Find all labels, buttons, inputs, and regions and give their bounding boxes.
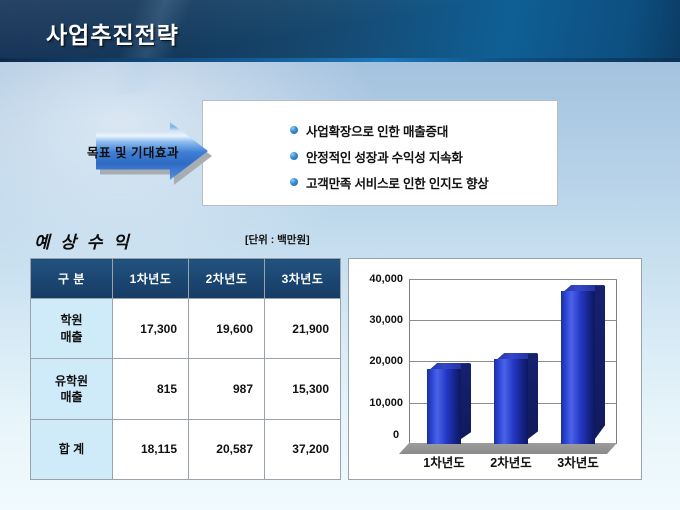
bullet-text: 고객만족 서비스로 인한 인지도 향상 <box>306 173 489 192</box>
table-cell: 37,200 <box>265 419 341 479</box>
row-label: 유학원 매출 <box>31 359 113 419</box>
bar-front-face <box>494 359 528 444</box>
y-axis-tick-label: 20,000 <box>369 355 403 367</box>
bullet-dot-icon <box>290 126 298 134</box>
table-cell: 20,587 <box>189 419 265 479</box>
table-cell: 18,115 <box>113 419 189 479</box>
row-label-line2: 매출 <box>31 329 112 345</box>
table-col-header: 3차년도 <box>265 259 341 299</box>
table-col-header: 구 분 <box>31 259 113 299</box>
bar-side-face <box>461 364 471 439</box>
bar-front-face <box>427 369 461 444</box>
y-axis-zero-label: 0 <box>393 429 399 441</box>
bar-series-1: 1차년도 <box>427 369 461 444</box>
table-col-header: 2차년도 <box>189 259 265 299</box>
bar-side-face <box>595 286 605 439</box>
table-cell: 17,300 <box>113 299 189 359</box>
y-axis-tick-label: 10,000 <box>369 397 403 409</box>
slide: 사업추진전략 사업확장으로 인한 매출증대 안정적인 성장과 수익성 지속화 고… <box>0 0 680 510</box>
x-axis-tick-label: 1차년도 <box>412 452 476 471</box>
table-cell: 15,300 <box>265 359 341 419</box>
section-title: 예 상 수 익 <box>34 228 132 253</box>
table-col-header: 1차년도 <box>113 259 189 299</box>
table-row: 합 계 18,115 20,587 37,200 <box>31 419 341 479</box>
row-label: 학원 매출 <box>31 299 113 359</box>
bar-series-3: 3차년도 <box>561 291 595 444</box>
x-axis-tick-label: 3차년도 <box>546 452 610 471</box>
bullet-dot-icon <box>290 152 298 160</box>
table-cell: 21,900 <box>265 299 341 359</box>
arrow-label: 목표 및 기대효과 <box>96 140 170 162</box>
table-row: 유학원 매출 815 987 15,300 <box>31 359 341 419</box>
page-title: 사업추진전략 <box>46 16 179 50</box>
gridline <box>409 279 617 280</box>
list-item: 사업확장으로 인한 매출증대 <box>290 117 550 143</box>
row-label-line1: 학원 <box>31 312 112 328</box>
bullet-text: 사업확장으로 인한 매출증대 <box>306 121 448 140</box>
bar-front-face <box>561 291 595 444</box>
bullet-list: 사업확장으로 인한 매출증대 안정적인 성장과 수익성 지속화 고객만족 서비스… <box>290 117 550 195</box>
bar-side-face <box>528 354 538 439</box>
row-label-line1: 유학원 <box>31 373 112 389</box>
bar-series-2: 2차년도 <box>494 359 528 444</box>
table-row: 학원 매출 17,300 19,600 21,900 <box>31 299 341 359</box>
unit-note: [단위 : 백만원] <box>245 232 310 247</box>
table-cell: 987 <box>189 359 265 419</box>
revenue-table: 구 분 1차년도 2차년도 3차년도 학원 매출 17,300 19,600 2… <box>30 258 341 480</box>
revenue-bar-chart: 0 40,000 30,000 20,000 10,000 1차년도 <box>348 258 642 480</box>
row-label-line2: 매출 <box>31 389 112 405</box>
table-cell: 19,600 <box>189 299 265 359</box>
list-item: 안정적인 성장과 수익성 지속화 <box>290 143 550 169</box>
x-axis-tick-label: 2차년도 <box>479 452 543 471</box>
chart-plot-area: 40,000 30,000 20,000 10,000 1차년도 2차년도 <box>409 279 617 444</box>
y-axis-tick-label: 30,000 <box>369 314 403 326</box>
table-header-row: 구 분 1차년도 2차년도 3차년도 <box>31 259 341 299</box>
table-cell: 815 <box>113 359 189 419</box>
bullet-text: 안정적인 성장과 수익성 지속화 <box>306 147 463 166</box>
list-item: 고객만족 서비스로 인한 인지도 향상 <box>290 169 550 195</box>
y-axis-tick-label: 40,000 <box>369 273 403 285</box>
callout-arrow: 목표 및 기대효과 <box>96 122 212 184</box>
row-label: 합 계 <box>31 419 113 479</box>
bullet-dot-icon <box>290 178 298 186</box>
